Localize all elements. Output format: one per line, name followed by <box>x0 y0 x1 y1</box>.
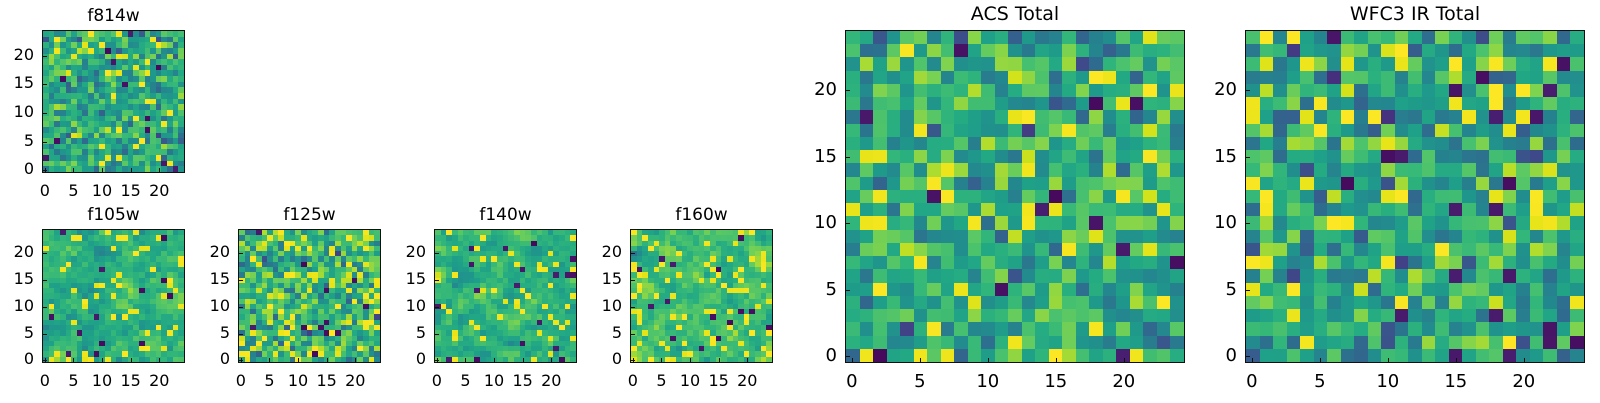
panel-f814w: f814w0510152005101520 <box>0 8 205 213</box>
xtick-mark-f160w-1 <box>661 358 662 363</box>
ytick-mark-f160w-1 <box>630 334 635 335</box>
ytick-label-acs_total-3: 15 <box>785 148 837 166</box>
ytick-mark-f105w-3 <box>42 280 47 281</box>
xtick-label-f160w-4: 20 <box>722 373 772 389</box>
xtick-mark-f160w-0 <box>633 358 634 363</box>
ytick-label-f814w-3: 15 <box>0 75 34 91</box>
xtick-label-acs_total-1: 5 <box>895 373 945 391</box>
xtick-mark-wfc3_ir_total-2 <box>1388 358 1389 363</box>
figure-canvas: f814w0510152005101520f105w05101520051015… <box>0 0 1600 400</box>
ytick-label-wfc3_ir_total-0: 0 <box>1185 347 1237 365</box>
xtick-mark-f814w-0 <box>45 168 46 173</box>
ytick-mark-f160w-2 <box>630 307 635 308</box>
xtick-label-wfc3_ir_total-4: 20 <box>1499 373 1549 391</box>
ytick-label-f814w-1: 5 <box>0 133 34 149</box>
panel-f160w: f160w0510152005101520 <box>570 207 793 403</box>
xtick-mark-f105w-0 <box>45 358 46 363</box>
xtick-mark-f140w-1 <box>465 358 466 363</box>
heatmap-axes-wfc3_ir_total <box>1245 30 1585 363</box>
heatmap-cells-acs_total <box>846 31 1184 362</box>
ytick-mark-f140w-3 <box>434 280 439 281</box>
heatmap-axes-acs_total <box>845 30 1185 363</box>
heatmap-axes-f105w <box>42 229 185 363</box>
heatmap-cells-f160w <box>631 230 772 362</box>
ytick-label-f125w-2: 10 <box>178 298 230 314</box>
xtick-mark-f814w-1 <box>73 168 74 173</box>
ytick-label-f105w-2: 10 <box>0 298 34 314</box>
heatmap-axes-f140w <box>434 229 577 363</box>
xtick-label-wfc3_ir_total-3: 15 <box>1431 373 1481 391</box>
xtick-label-acs_total-0: 0 <box>827 373 877 391</box>
xtick-label-f140w-4: 20 <box>526 373 576 389</box>
panel-title-f140w: f140w <box>434 207 577 224</box>
ytick-label-f140w-1: 5 <box>374 325 426 341</box>
ytick-mark-f140w-1 <box>434 334 439 335</box>
panel-f125w: f125w0510152005101520 <box>178 207 401 403</box>
ytick-label-f160w-1: 5 <box>570 325 622 341</box>
ytick-label-f105w-4: 20 <box>0 244 34 260</box>
ytick-mark-f140w-4 <box>434 253 439 254</box>
panel-title-f814w: f814w <box>42 8 185 25</box>
xtick-mark-wfc3_ir_total-4 <box>1524 358 1525 363</box>
xtick-mark-f814w-4 <box>159 168 160 173</box>
ytick-label-f160w-2: 10 <box>570 298 622 314</box>
xtick-label-acs_total-2: 10 <box>963 373 1013 391</box>
ytick-label-f105w-0: 0 <box>0 351 34 367</box>
heatmap-cells-wfc3_ir_total <box>1246 31 1584 362</box>
ytick-mark-f814w-1 <box>42 142 47 143</box>
ytick-label-f814w-0: 0 <box>0 161 34 177</box>
xtick-mark-wfc3_ir_total-0 <box>1252 358 1253 363</box>
xtick-mark-f105w-2 <box>102 358 103 363</box>
panel-title-f105w: f105w <box>42 207 185 224</box>
heatmap-cells-f814w <box>43 31 184 172</box>
xtick-mark-f140w-3 <box>523 358 524 363</box>
ytick-mark-wfc3_ir_total-3 <box>1245 157 1250 158</box>
ytick-mark-wfc3_ir_total-0 <box>1245 356 1250 357</box>
ytick-mark-acs_total-4 <box>845 90 850 91</box>
xtick-label-f105w-4: 20 <box>134 373 184 389</box>
ytick-label-acs_total-1: 5 <box>785 281 837 299</box>
ytick-label-f125w-0: 0 <box>178 351 230 367</box>
ytick-label-wfc3_ir_total-1: 5 <box>1185 281 1237 299</box>
ytick-mark-f105w-1 <box>42 334 47 335</box>
panel-title-wfc3_ir_total: WFC3 IR Total <box>1245 5 1585 24</box>
ytick-mark-f125w-2 <box>238 307 243 308</box>
panel-title-f160w: f160w <box>630 207 773 224</box>
ytick-mark-f140w-2 <box>434 307 439 308</box>
ytick-label-f160w-0: 0 <box>570 351 622 367</box>
xtick-mark-acs_total-1 <box>920 358 921 363</box>
ytick-mark-wfc3_ir_total-1 <box>1245 290 1250 291</box>
ytick-label-f125w-1: 5 <box>178 325 230 341</box>
ytick-label-acs_total-0: 0 <box>785 347 837 365</box>
ytick-label-f125w-3: 15 <box>178 271 230 287</box>
xtick-mark-acs_total-3 <box>1056 358 1057 363</box>
xtick-mark-f105w-3 <box>131 358 132 363</box>
xtick-label-acs_total-4: 20 <box>1099 373 1149 391</box>
heatmap-cells-f140w <box>435 230 576 362</box>
panel-wfc3_ir_total: WFC3 IR Total0510152005101520 <box>1185 5 1600 403</box>
ytick-mark-wfc3_ir_total-2 <box>1245 223 1250 224</box>
ytick-label-acs_total-2: 10 <box>785 214 837 232</box>
xtick-mark-f125w-4 <box>355 358 356 363</box>
panel-title-f125w: f125w <box>238 207 381 224</box>
panel-acs_total: ACS Total0510152005101520 <box>785 5 1205 403</box>
xtick-mark-f125w-0 <box>241 358 242 363</box>
panel-title-acs_total: ACS Total <box>845 5 1185 24</box>
ytick-label-acs_total-4: 20 <box>785 81 837 99</box>
ytick-mark-f125w-3 <box>238 280 243 281</box>
ytick-mark-f125w-1 <box>238 334 243 335</box>
ytick-mark-f125w-4 <box>238 253 243 254</box>
ytick-mark-acs_total-3 <box>845 157 850 158</box>
ytick-label-wfc3_ir_total-3: 15 <box>1185 148 1237 166</box>
ytick-label-f140w-0: 0 <box>374 351 426 367</box>
heatmap-cells-f125w <box>239 230 380 362</box>
xtick-label-f814w-4: 20 <box>134 183 184 199</box>
ytick-label-wfc3_ir_total-4: 20 <box>1185 81 1237 99</box>
ytick-mark-acs_total-0 <box>845 356 850 357</box>
xtick-mark-f814w-2 <box>102 168 103 173</box>
xtick-mark-f160w-2 <box>690 358 691 363</box>
ytick-mark-f160w-3 <box>630 280 635 281</box>
ytick-mark-f814w-3 <box>42 84 47 85</box>
heatmap-cells-f105w <box>43 230 184 362</box>
xtick-mark-f140w-0 <box>437 358 438 363</box>
xtick-label-acs_total-3: 15 <box>1031 373 1081 391</box>
ytick-label-f814w-2: 10 <box>0 104 34 120</box>
ytick-label-f814w-4: 20 <box>0 47 34 63</box>
xtick-mark-f140w-4 <box>551 358 552 363</box>
ytick-label-f160w-3: 15 <box>570 271 622 287</box>
ytick-mark-acs_total-2 <box>845 223 850 224</box>
xtick-mark-f140w-2 <box>494 358 495 363</box>
xtick-mark-f105w-1 <box>73 358 74 363</box>
panel-f140w: f140w0510152005101520 <box>374 207 597 403</box>
heatmap-axes-f125w <box>238 229 381 363</box>
ytick-mark-f814w-2 <box>42 113 47 114</box>
ytick-label-f125w-4: 20 <box>178 244 230 260</box>
xtick-mark-f814w-3 <box>131 168 132 173</box>
heatmap-axes-f814w <box>42 30 185 173</box>
xtick-mark-acs_total-4 <box>1124 358 1125 363</box>
ytick-label-f140w-2: 10 <box>374 298 426 314</box>
xtick-label-wfc3_ir_total-1: 5 <box>1295 373 1345 391</box>
xtick-label-wfc3_ir_total-0: 0 <box>1227 373 1277 391</box>
panel-f105w: f105w0510152005101520 <box>0 207 205 403</box>
xtick-mark-f125w-2 <box>298 358 299 363</box>
ytick-mark-wfc3_ir_total-4 <box>1245 90 1250 91</box>
ytick-mark-f105w-4 <box>42 253 47 254</box>
ytick-label-f140w-4: 20 <box>374 244 426 260</box>
ytick-label-f105w-3: 15 <box>0 271 34 287</box>
xtick-label-wfc3_ir_total-2: 10 <box>1363 373 1413 391</box>
xtick-mark-acs_total-0 <box>852 358 853 363</box>
xtick-mark-f125w-1 <box>269 358 270 363</box>
ytick-mark-f105w-2 <box>42 307 47 308</box>
ytick-label-f160w-4: 20 <box>570 244 622 260</box>
ytick-mark-acs_total-1 <box>845 290 850 291</box>
ytick-mark-f160w-4 <box>630 253 635 254</box>
xtick-mark-wfc3_ir_total-1 <box>1320 358 1321 363</box>
xtick-mark-f125w-3 <box>327 358 328 363</box>
ytick-label-f140w-3: 15 <box>374 271 426 287</box>
xtick-label-f125w-4: 20 <box>330 373 380 389</box>
ytick-label-f105w-1: 5 <box>0 325 34 341</box>
heatmap-axes-f160w <box>630 229 773 363</box>
xtick-mark-acs_total-2 <box>988 358 989 363</box>
ytick-mark-f814w-4 <box>42 56 47 57</box>
xtick-mark-f160w-4 <box>747 358 748 363</box>
xtick-mark-f160w-3 <box>719 358 720 363</box>
xtick-mark-f105w-4 <box>159 358 160 363</box>
xtick-mark-wfc3_ir_total-3 <box>1456 358 1457 363</box>
ytick-label-wfc3_ir_total-2: 10 <box>1185 214 1237 232</box>
